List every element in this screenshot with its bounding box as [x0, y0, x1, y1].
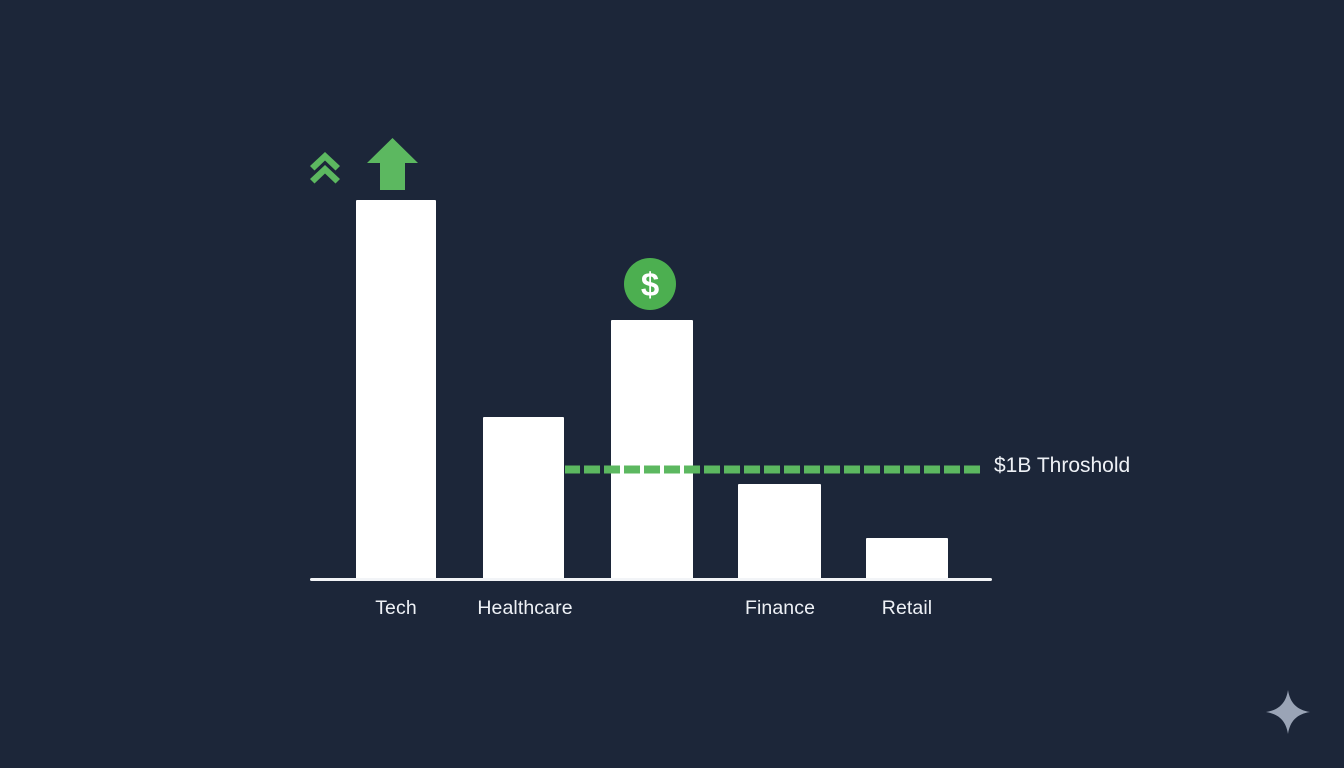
dollar-circle-icon: $ [624, 258, 676, 310]
arrow-up-icon [366, 137, 419, 191]
category-label: Retail [882, 595, 932, 621]
x-axis-line [310, 578, 992, 581]
double-chevron-up-icon [306, 149, 344, 186]
threshold-label: $1B Throshold [994, 452, 1130, 479]
dollar-glyph: $ [641, 268, 659, 301]
bar[interactable] [356, 200, 436, 580]
chart-canvas: TechHealthcareFinanceRetail $1B Throshol… [0, 0, 1344, 768]
bar[interactable] [611, 320, 693, 580]
category-label: Tech [375, 595, 417, 621]
bar-chart-plot-area: TechHealthcareFinanceRetail $1B Throshol… [0, 0, 1344, 768]
category-label: Healthcare [477, 595, 572, 621]
bar[interactable] [866, 538, 948, 580]
category-label: Finance [745, 595, 815, 621]
bar[interactable] [738, 484, 821, 580]
sparkle-icon [1265, 689, 1311, 735]
bar[interactable] [483, 417, 564, 580]
threshold-line [565, 461, 985, 470]
